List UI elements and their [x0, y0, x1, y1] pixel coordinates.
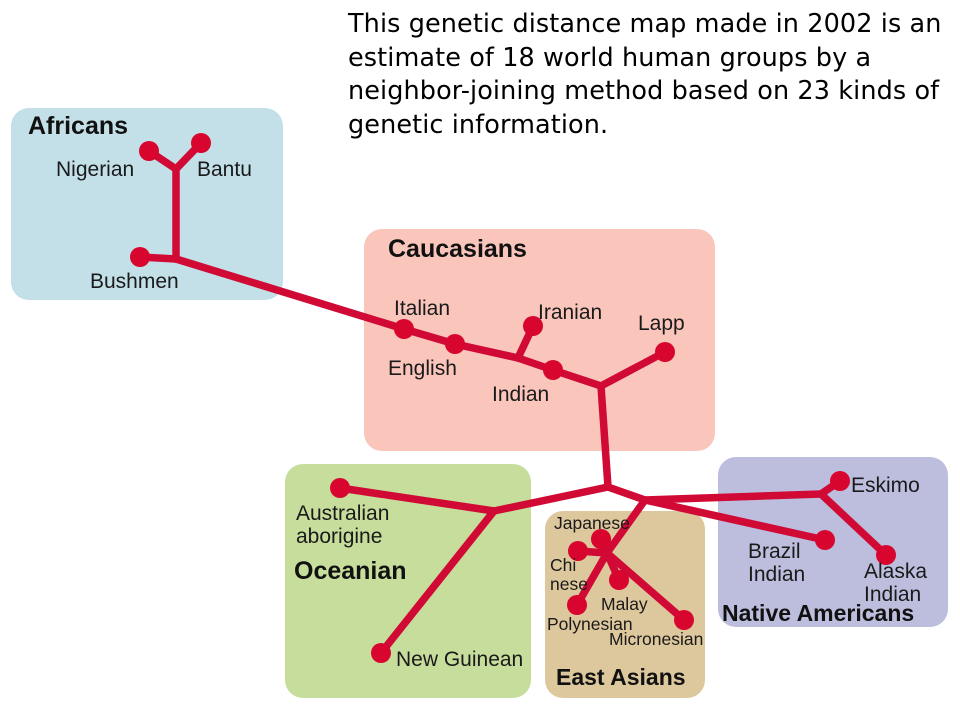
- label-japanese: Japanese: [554, 514, 630, 533]
- label-chi-nese: Chi nese: [550, 556, 588, 594]
- label-iranian: Iranian: [538, 301, 602, 324]
- group-title-native-americans: Native Americans: [722, 600, 914, 627]
- label-bushmen: Bushmen: [90, 270, 179, 293]
- label-lapp: Lapp: [638, 312, 685, 335]
- tree-edge: [608, 487, 645, 500]
- genetic-distance-map: NigerianBantuBushmenAfricansItalianEngli…: [0, 0, 960, 720]
- group-title-oceanian: Oceanian: [294, 558, 407, 585]
- group-title-africans: Africans: [28, 113, 128, 140]
- group-title-caucasians: Caucasians: [388, 236, 527, 263]
- label-nigerian: Nigerian: [56, 158, 134, 181]
- label-indian: Indian: [492, 383, 549, 406]
- label-malay: Malay: [601, 595, 648, 614]
- label-brazil-indian: Brazil Indian: [748, 540, 805, 586]
- label-bantu: Bantu: [197, 158, 252, 181]
- label-new-guinean: New Guinean: [396, 648, 523, 671]
- label-english: English: [388, 357, 457, 380]
- label-italian: Italian: [394, 297, 450, 320]
- caption-text: This genetic distance map made in 2002 i…: [348, 8, 948, 142]
- label-micronesian: Micronesian: [609, 630, 703, 649]
- label-eskimo: Eskimo: [851, 474, 920, 497]
- group-title-east-asians: East Asians: [556, 664, 686, 691]
- label-australian-aborigine: Australian aborigine: [296, 502, 389, 548]
